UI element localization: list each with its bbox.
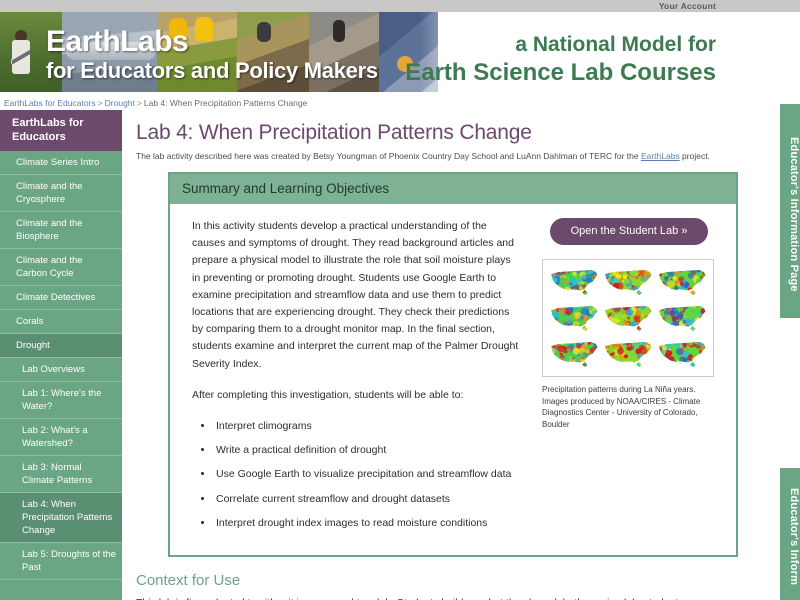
summary-aside-column: Open the Student Lab » Precipitation pat…	[542, 218, 722, 430]
context-for-use-heading: Context for Use	[136, 571, 738, 591]
top-utility-bar: Your Account	[0, 0, 800, 12]
summary-paragraph-2: After completing this investigation, stu…	[192, 387, 520, 404]
learning-objectives-list: Interpret climogramsWrite a practical de…	[214, 418, 520, 532]
masthead-title: EarthLabs	[46, 25, 188, 59]
learning-objective-item: Interpret climograms	[214, 418, 520, 435]
learning-objective-item: Correlate current streamflow and drought…	[214, 491, 520, 508]
your-account-link[interactable]: Your Account	[659, 1, 716, 12]
summary-text-column: In this activity students develop a prac…	[192, 218, 520, 532]
breadcrumb-separator: >	[135, 98, 144, 108]
learning-objective-item: Write a practical definition of drought	[214, 442, 520, 459]
learning-objective-item: Interpret drought index images to read m…	[214, 515, 520, 532]
sidebar-item-corals[interactable]: Corals	[0, 310, 122, 334]
breadcrumb-item-drought[interactable]: Drought	[105, 98, 135, 108]
open-student-lab-button[interactable]: Open the Student Lab »	[550, 218, 708, 245]
vertical-tab-gap	[780, 318, 800, 468]
precipitation-map-grid	[548, 265, 708, 371]
byline-text-after: project.	[680, 151, 710, 161]
page-root: Your Account EarthLabs for Educators and…	[0, 0, 800, 600]
byline-text-before: The lab activity described here was crea…	[136, 151, 641, 161]
sidebar-nav: EarthLabs for Educators Climate Series I…	[0, 110, 122, 600]
breadcrumb-current: Lab 4: When Precipitation Patterns Chang…	[144, 98, 308, 108]
breadcrumb-separator: >	[96, 98, 105, 108]
summary-paragraph-1: In this activity students develop a prac…	[192, 218, 520, 373]
precipitation-map-thumbnail	[548, 301, 600, 335]
precipitation-map-thumbnail	[656, 337, 708, 371]
sidebar-item-climate-detectives[interactable]: Climate Detectives	[0, 286, 122, 310]
sidebar-title: EarthLabs for Educators	[0, 110, 122, 151]
context-for-use-text: This lab is fine-adapted to either it is…	[136, 595, 756, 600]
main-content: Lab 4: When Precipitation Patterns Chang…	[122, 110, 768, 600]
masthead-tagline-line2: Earth Science Lab Courses	[405, 59, 716, 87]
precipitation-map-thumbnail	[656, 301, 708, 335]
vertical-tab-educators-information-page[interactable]: Educator's Information Page	[780, 104, 800, 318]
sidebar-item-lab-1-where-s-the-water[interactable]: Lab 1: Where's the Water?	[0, 382, 122, 419]
precipitation-maps-image[interactable]	[542, 259, 714, 377]
sidebar-item-climate-and-the-biosphere[interactable]: Climate and the Biosphere	[0, 212, 122, 249]
byline: The lab activity described here was crea…	[136, 150, 738, 162]
earthlabs-link[interactable]: EarthLabs	[641, 151, 680, 161]
site-masthead: EarthLabs for Educators and Policy Maker…	[0, 12, 768, 92]
masthead-tagline-line1: a National Model for	[515, 33, 716, 57]
precipitation-map-thumbnail	[602, 265, 654, 299]
learning-objective-item: Use Google Earth to visualize precipitat…	[214, 466, 520, 483]
sidebar-item-climate-and-the-carbon-cycle[interactable]: Climate and the Carbon Cycle	[0, 249, 122, 286]
precipitation-map-thumbnail	[548, 337, 600, 371]
sidebar-item-lab-2-what-s-a-watershed[interactable]: Lab 2: What's a Watershed?	[0, 419, 122, 456]
sidebar-item-lab-4-when-precipitation-patterns-change[interactable]: Lab 4: When Precipitation Patterns Chang…	[0, 493, 122, 543]
masthead-subtitle: for Educators and Policy Makers	[46, 58, 378, 84]
summary-body: In this activity students develop a prac…	[170, 204, 736, 555]
page-title: Lab 4: When Precipitation Patterns Chang…	[136, 120, 738, 146]
sidebar-item-lab-overviews[interactable]: Lab Overviews	[0, 358, 122, 382]
sidebar-item-climate-series-intro[interactable]: Climate Series Intro	[0, 151, 122, 175]
image-caption: Precipitation patterns during La Niña ye…	[542, 384, 718, 430]
precipitation-map-thumbnail	[602, 337, 654, 371]
sidebar-item-lab-5-droughts-of-the-past[interactable]: Lab 5: Droughts of the Past	[0, 543, 122, 580]
sidebar-item-list: Climate Series IntroClimate and the Cryo…	[0, 151, 122, 580]
breadcrumb-item-earthlabs[interactable]: EarthLabs for Educators	[4, 98, 96, 108]
summary-heading: Summary and Learning Objectives	[170, 174, 736, 204]
precipitation-map-thumbnail	[602, 301, 654, 335]
summary-box: Summary and Learning Objectives In this …	[168, 172, 738, 557]
precipitation-map-thumbnail	[656, 265, 708, 299]
vertical-tab-educators-information-secondary[interactable]: Educator's Inform	[780, 468, 800, 600]
sidebar-item-lab-3-normal-climate-patterns[interactable]: Lab 3: Normal Climate Patterns	[0, 456, 122, 493]
breadcrumb: EarthLabs for Educators>Drought>Lab 4: W…	[0, 96, 768, 110]
sidebar-item-climate-and-the-cryosphere[interactable]: Climate and the Cryosphere	[0, 175, 122, 212]
sidebar-item-drought[interactable]: Drought	[0, 334, 122, 358]
precipitation-map-thumbnail	[548, 265, 600, 299]
